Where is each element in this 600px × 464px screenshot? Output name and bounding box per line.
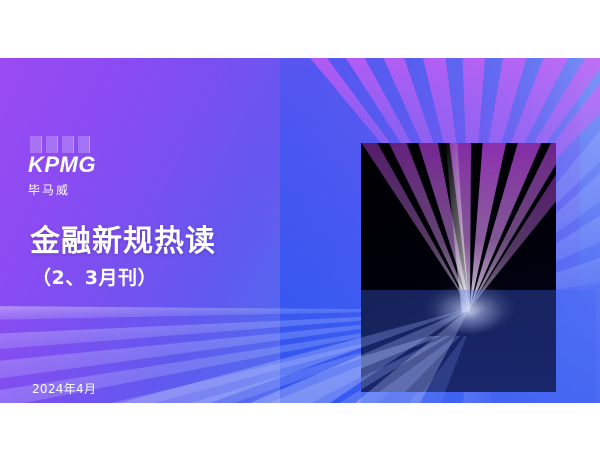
artwork-rays-upper — [361, 143, 556, 336]
artwork-panel-lower — [361, 336, 556, 392]
screenshot-canvas: KPMG 毕马威 金融新规热读 （2、3月刊） 2024年4月 — [0, 0, 600, 464]
artwork-panel-upper — [361, 143, 556, 336]
kpmg-chinese-name: 毕马威 — [28, 181, 148, 198]
kpmg-logo: KPMG 毕马威 — [28, 136, 148, 198]
kpmg-wordmark: KPMG — [28, 154, 148, 176]
slide-date: 2024年4月 — [32, 380, 96, 397]
title-slide: KPMG 毕马威 金融新规热读 （2、3月刊） 2024年4月 — [0, 58, 600, 403]
slide-subtitle: （2、3月刊） — [32, 263, 157, 290]
slide-title: 金融新规热读 — [30, 216, 216, 260]
artwork-rays-lower — [361, 336, 556, 392]
kpmg-logo-bars-icon — [30, 136, 148, 153]
